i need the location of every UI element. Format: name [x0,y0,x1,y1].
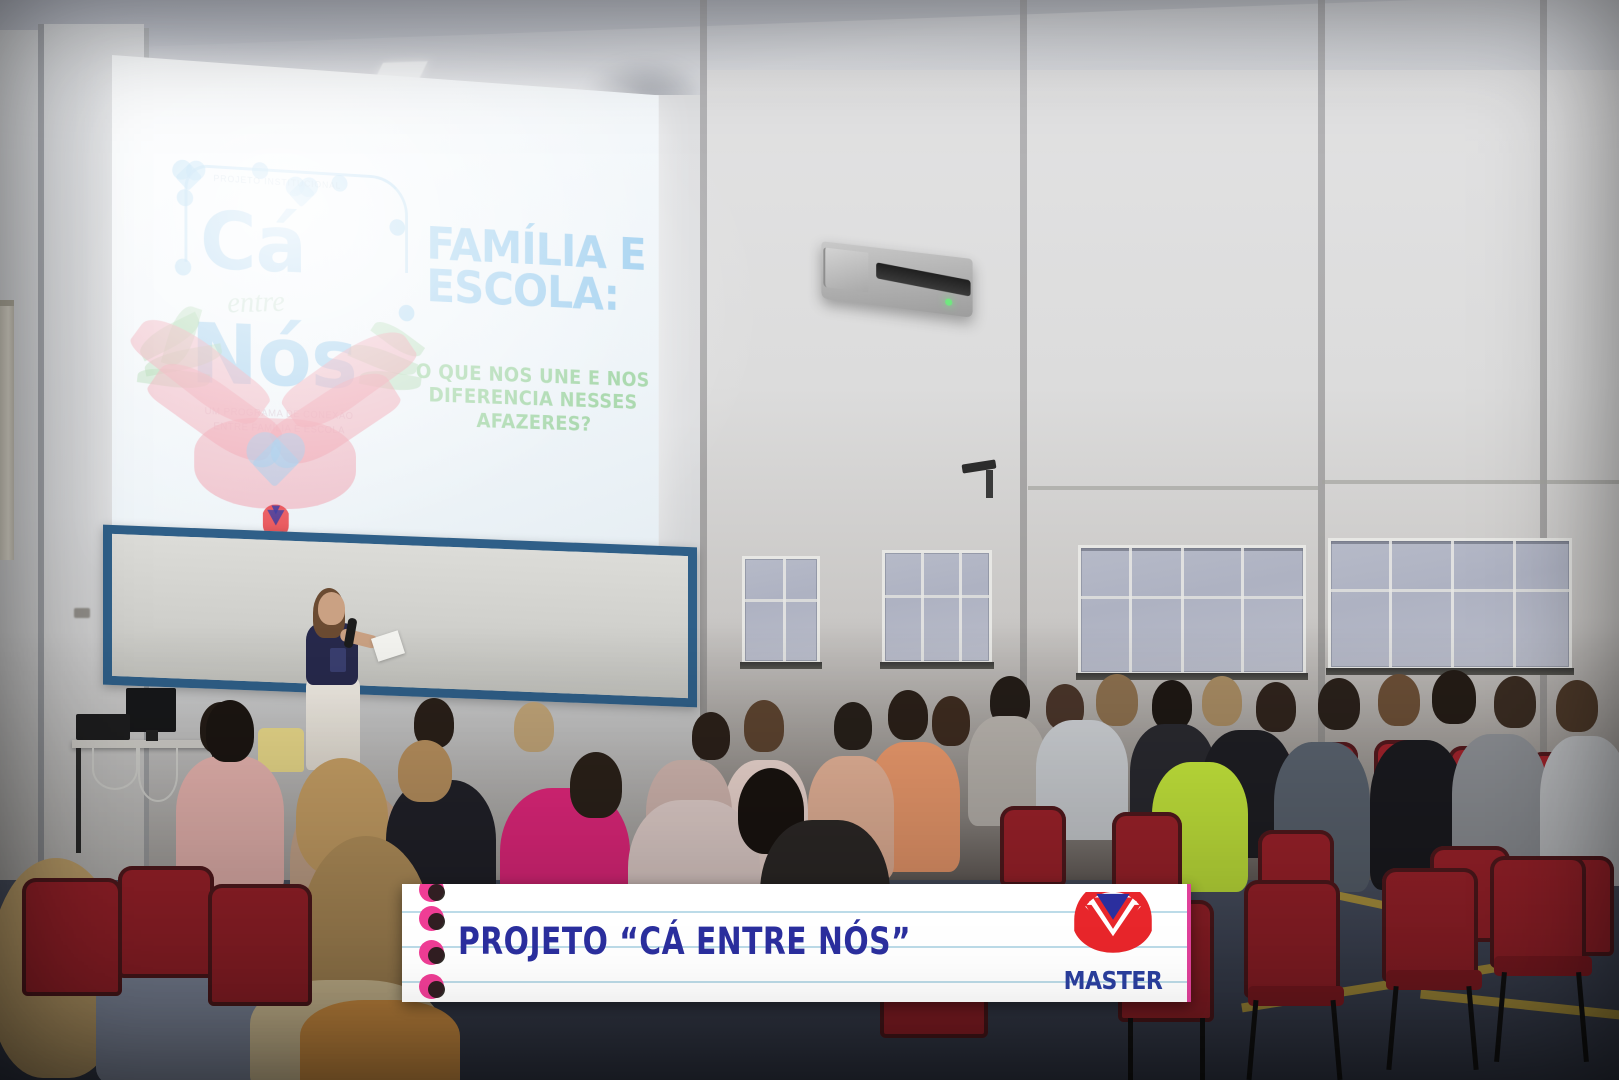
audience-head [1432,670,1476,724]
chair [22,878,122,996]
window-mullion-h [1331,589,1569,592]
banner-accent-dot [419,974,444,999]
window-mullion-v [1181,548,1184,672]
lower-third-banner: PROJETO “CÁ ENTRE NÓS” MASTER [402,884,1191,1002]
window [742,556,820,664]
audience-head [1556,680,1598,732]
window-lintel [1028,486,1318,490]
window-transom [1331,541,1569,544]
audience-head [1378,674,1420,726]
window-mullion-v [1451,541,1454,667]
ac-status-led [945,298,952,306]
window-sill [740,662,822,669]
window [882,550,992,664]
audience-head [514,702,554,752]
av-equipment-box [76,714,130,740]
slide-logo-ca: Cá [200,194,306,291]
banner-accent-dot [419,884,444,902]
chair [1000,806,1066,886]
slide-title-line2: ESCOLA: [426,265,650,318]
cable [138,748,178,802]
window-mullion-v [1241,548,1244,672]
chair [118,866,214,978]
master-logo-mark [1057,892,1169,964]
banner-title: PROJETO “CÁ ENTRE NÓS” [458,920,911,964]
projection-screen-surface: PROJETO INSTITUCIONAL Cá entre Nós UM PR… [112,55,659,555]
door-frame-top [0,300,14,306]
audience-head [744,700,784,752]
chair [1490,856,1586,968]
audience-head [206,700,254,762]
slide-subtitle: O QUE NOS UNE E NOS DIFERENCIA NESSES AF… [415,359,650,437]
banner-accent-dot [419,906,444,931]
window-mullion-h [1081,596,1303,599]
audience-head [570,752,622,818]
chain-dot-icon [177,189,194,207]
chair [1382,868,1478,982]
cable [92,748,138,790]
audience-head [834,702,872,750]
photo-canvas: PROJETO INSTITUCIONAL Cá entre Nós UM PR… [0,0,1619,1080]
av-table-leg [76,748,81,853]
window-mullion-v [1389,541,1392,667]
audience-head [1096,674,1138,726]
chair [208,884,312,1006]
door-frame [0,300,14,560]
audience-head [1318,678,1360,730]
chair-leg [1128,1018,1133,1080]
audience-head [1202,676,1242,726]
wall-seam [1540,0,1547,830]
window-mullion-v [959,553,962,661]
slide-title: FAMÍLIA E ESCOLA: [426,223,650,318]
window-mullion-v [1129,548,1132,672]
banner-accent-dot [419,940,444,965]
whiteboard [103,525,697,708]
computer-monitor [126,688,176,732]
window [1078,545,1306,675]
wall-seam [700,0,707,830]
audience-head [692,712,730,760]
audience-torso [300,1000,460,1080]
audience-head [1152,680,1192,730]
chair-leg [1200,1018,1205,1080]
wall-hook [74,608,90,618]
presenter-lanyard [330,648,346,672]
master-wordmark: MASTER [1057,967,1169,996]
chair [1244,880,1340,998]
chain-dot-icon [399,304,415,321]
window-mullion-h [885,595,989,598]
window [1328,538,1572,670]
chain-dot-icon [389,219,405,236]
master-logo: MASTER [1057,892,1169,996]
presenter-head [318,592,345,625]
chain-dot-icon [175,258,192,276]
monitor-stand [146,730,158,741]
presenter-pants [306,678,360,770]
audience-head [932,696,970,746]
audience-head [398,740,452,802]
audience-head [888,690,928,740]
ac-vent [876,262,970,296]
window-mullion-v [921,553,924,661]
chair-seat [1248,986,1344,1006]
audience-head [1256,682,1296,732]
window-mullion-h [745,599,817,602]
ac-side-panel [823,247,868,292]
window-mullion-v [783,559,786,661]
window-lintel [1322,480,1619,484]
wall-bracket-arm [986,470,993,498]
projection-screen: PROJETO INSTITUCIONAL Cá entre Nós UM PR… [112,55,659,555]
av-table [72,740,220,748]
whiteboard-surface [112,534,688,698]
window-mullion-v [1513,541,1516,667]
window-sill [880,662,994,669]
slide-logo-block: PROJETO INSTITUCIONAL Cá entre Nós UM PR… [134,152,419,537]
audience-head [1494,676,1536,728]
window-transom [1081,548,1303,551]
